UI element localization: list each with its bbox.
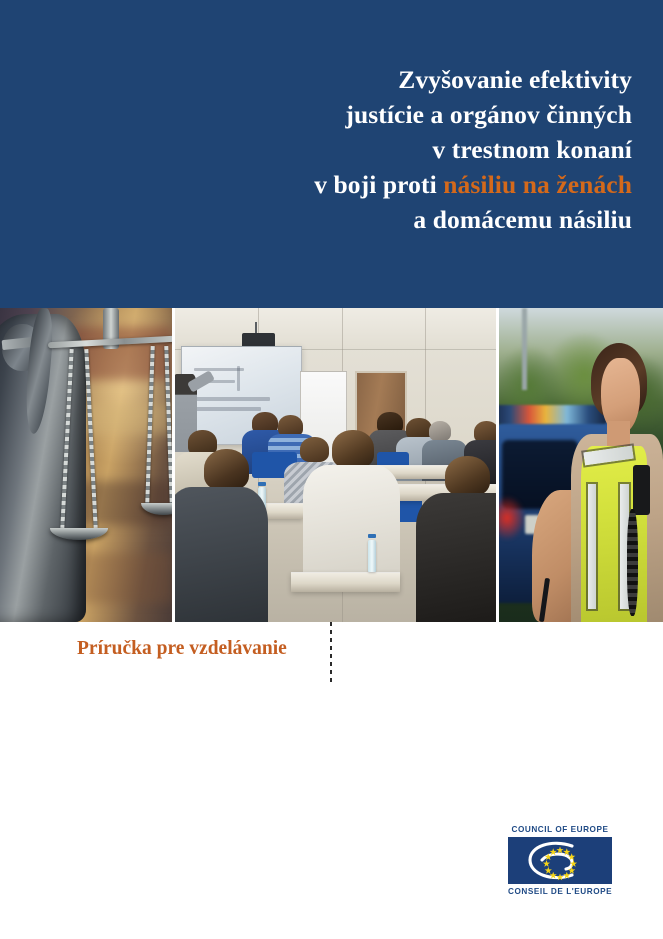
title-accent-phrase: násiliu na ženách: [443, 170, 632, 199]
bottle-cap: [258, 482, 266, 486]
photo-training-classroom: [175, 308, 496, 622]
attendee-head: [429, 421, 451, 441]
water-bottle: [368, 540, 376, 571]
shoulder-radio: [633, 465, 649, 515]
patrol-car-taillight: [499, 496, 525, 540]
logo-flag: [508, 837, 612, 884]
cover-title: Zvyšovanie efektivity justície a orgánov…: [32, 62, 632, 237]
title-line-2: justície a orgánov činných: [32, 97, 632, 132]
attendee-body: [303, 465, 399, 584]
police-background: [499, 308, 663, 622]
vest-stripe: [588, 484, 596, 610]
screen-content: [192, 397, 270, 401]
title-line-5: a domácemu násiliu: [32, 202, 632, 237]
attendee-head: [445, 456, 490, 497]
attendee-head: [204, 449, 249, 490]
ceiling: [175, 308, 496, 350]
patrol-car-lightbar: [499, 405, 607, 424]
cover-subtitle: Príručka pre vzdelávanie: [77, 637, 287, 661]
attendee-head: [300, 437, 329, 462]
title-line-4-plain: v boji proti: [314, 170, 437, 199]
coe-emblem-icon: [508, 837, 612, 884]
street-post: [522, 308, 527, 390]
attendee-head: [332, 430, 374, 468]
cover-page: Zvyšovanie efektivity justície a orgánov…: [0, 0, 663, 939]
officer-neck: [607, 421, 630, 446]
title-line-1: Zvyšovanie efektivity: [32, 62, 632, 97]
justice-background: [0, 308, 172, 622]
desk: [291, 572, 400, 592]
photo-police-officer: [499, 308, 663, 622]
logo-label-french: CONSEIL DE L'EUROPE: [508, 886, 612, 897]
bottle-cap: [368, 534, 376, 538]
title-line-4: v boji proti násiliu na ženách: [32, 167, 632, 202]
title-banner: Zvyšovanie efektivity justície a orgánov…: [0, 0, 663, 308]
cover-image-strip: [0, 308, 663, 622]
screen-content: [192, 407, 261, 411]
title-line-3: v trestnom konaní: [32, 132, 632, 167]
radio-cord: [627, 509, 638, 616]
attendee-body: [416, 493, 496, 622]
council-of-europe-logo: COUNCIL OF EUROPE: [508, 824, 612, 897]
classroom-background: [175, 308, 496, 622]
logo-label-english: COUNCIL OF EUROPE: [508, 824, 612, 835]
screen-content: [237, 366, 240, 391]
attendee-body: [175, 487, 268, 622]
photo-statue-of-justice: [0, 308, 172, 622]
dashed-divider: [330, 622, 332, 682]
